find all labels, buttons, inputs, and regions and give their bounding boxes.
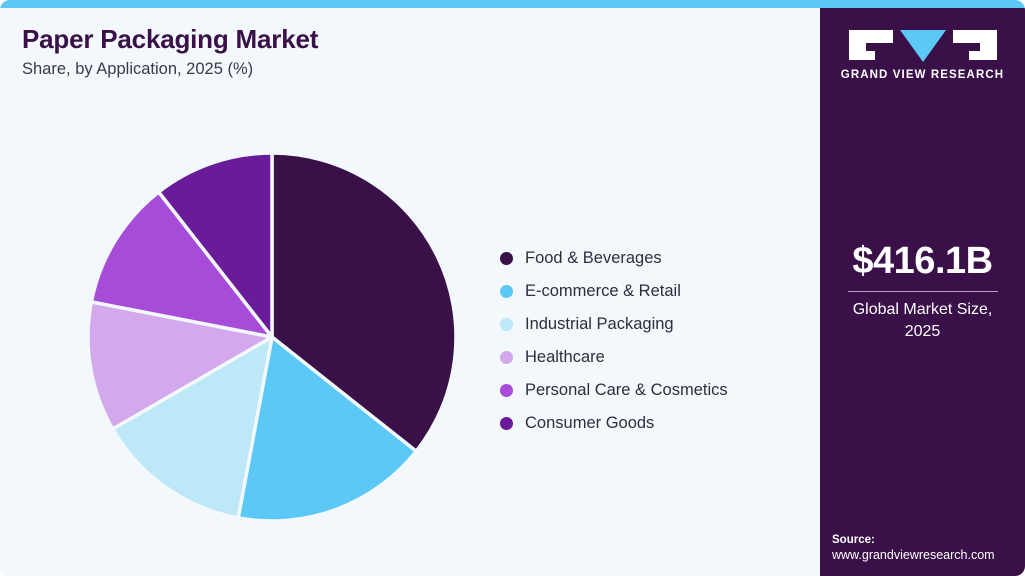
logo-r-icon bbox=[953, 30, 997, 60]
top-accent-bar bbox=[0, 0, 1025, 8]
legend-color-swatch-icon bbox=[500, 417, 513, 430]
source-block: Source: www.grandviewresearch.com bbox=[832, 534, 1025, 562]
brand-panel: GRAND VIEW RESEARCH $416.1B Global Marke… bbox=[820, 8, 1025, 576]
logo-v-triangle-icon bbox=[900, 30, 946, 62]
source-url: www.grandviewresearch.com bbox=[832, 548, 1025, 562]
legend-color-swatch-icon bbox=[500, 285, 513, 298]
infographic-container: Paper Packaging Market Share, by Applica… bbox=[0, 0, 1025, 576]
legend-item[interactable]: Industrial Packaging bbox=[500, 308, 800, 341]
legend-label: Food & Beverages bbox=[525, 249, 662, 268]
legend-label: Healthcare bbox=[525, 348, 605, 367]
source-label: Source: bbox=[832, 534, 1025, 546]
legend-label: Consumer Goods bbox=[525, 414, 654, 433]
logo-marks bbox=[820, 30, 1025, 60]
legend-item[interactable]: E-commerce & Retail bbox=[500, 275, 800, 308]
legend-color-swatch-icon bbox=[500, 252, 513, 265]
market-size-caption: Global Market Size, 2025 bbox=[820, 299, 1025, 342]
legend-label: Personal Care & Cosmetics bbox=[525, 381, 728, 400]
page-subtitle: Share, by Application, 2025 (%) bbox=[22, 60, 253, 79]
legend-item[interactable]: Consumer Goods bbox=[500, 407, 800, 440]
logo-wordmark: GRAND VIEW RESEARCH bbox=[820, 69, 1025, 81]
main-panel: Paper Packaging Market Share, by Applica… bbox=[0, 8, 820, 576]
stat-divider bbox=[848, 291, 998, 292]
pie-chart-svg bbox=[86, 151, 458, 523]
page-title: Paper Packaging Market bbox=[22, 24, 318, 55]
market-size-value: $416.1B bbox=[820, 240, 1025, 283]
pie-slice-group bbox=[88, 153, 456, 521]
legend-item[interactable]: Healthcare bbox=[500, 341, 800, 374]
legend-item[interactable]: Personal Care & Cosmetics bbox=[500, 374, 800, 407]
legend-color-swatch-icon bbox=[500, 384, 513, 397]
legend-color-swatch-icon bbox=[500, 351, 513, 364]
legend-label: E-commerce & Retail bbox=[525, 282, 681, 301]
logo-g-icon bbox=[849, 30, 893, 60]
grand-view-research-logo: GRAND VIEW RESEARCH bbox=[820, 30, 1025, 81]
market-size-stat: $416.1B Global Market Size, 2025 bbox=[820, 240, 1025, 342]
legend-color-swatch-icon bbox=[500, 318, 513, 331]
chart-legend: Food & BeveragesE-commerce & RetailIndus… bbox=[500, 242, 800, 440]
pie-chart bbox=[86, 151, 458, 523]
legend-label: Industrial Packaging bbox=[525, 315, 674, 334]
legend-item[interactable]: Food & Beverages bbox=[500, 242, 800, 275]
